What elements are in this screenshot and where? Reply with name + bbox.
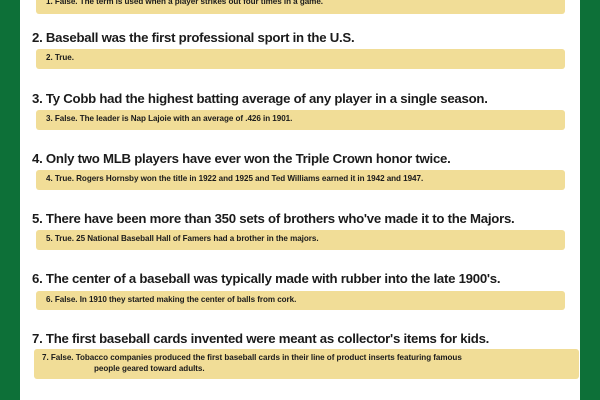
question-text-7: 7. The first baseball cards invented wer… (32, 331, 565, 348)
left-green-border (0, 0, 20, 400)
answer-text-6: 6. False. In 1910 they started making th… (46, 295, 557, 306)
qa-item-5: 5. There have been more than 350 sets of… (32, 211, 565, 250)
qa-item-2: 2. Baseball was the first professional s… (32, 30, 565, 69)
answer-text-7-line-2: people geared toward adults. (42, 364, 573, 375)
qa-item-7: 7. The first baseball cards invented wer… (32, 331, 565, 379)
answer-text-4: 4. True. Rogers Hornsby won the title in… (46, 174, 557, 185)
question-text-5: 5. There have been more than 350 sets of… (32, 211, 565, 230)
qa-item-1: 1. False. The term is used when a player… (32, 0, 565, 14)
question-text-6: 6. The center of a baseball was typicall… (32, 271, 565, 290)
qa-item-4: 4. Only two MLB players have ever won th… (32, 151, 565, 190)
question-text-4: 4. Only two MLB players have ever won th… (32, 151, 565, 170)
question-text-3: 3. Ty Cobb had the highest batting avera… (32, 91, 565, 110)
quiz-answer-key-page: 1. False. The term is used when a player… (0, 0, 600, 400)
answer-box-2: 2. True. (36, 49, 565, 69)
answer-text-1: 1. False. The term is used when a player… (46, 0, 557, 8)
answer-box-1: 1. False. The term is used when a player… (36, 0, 565, 14)
answer-box-5: 5. True. 25 National Baseball Hall of Fa… (36, 230, 565, 250)
question-text-2: 2. Baseball was the first professional s… (32, 30, 565, 49)
right-green-border (580, 0, 600, 400)
answer-text-2: 2. True. (46, 53, 557, 64)
answer-box-4: 4. True. Rogers Hornsby won the title in… (36, 170, 565, 190)
answer-box-3: 3. False. The leader is Nap Lajoie with … (36, 110, 565, 130)
answer-text-5: 5. True. 25 National Baseball Hall of Fa… (46, 234, 557, 245)
answer-text-7-line-1: 7. False. Tobacco companies produced the… (42, 353, 573, 364)
answer-box-6: 6. False. In 1910 they started making th… (36, 291, 565, 311)
qa-item-3: 3. Ty Cobb had the highest batting avera… (32, 91, 565, 130)
answer-box-7: 7. False. Tobacco companies produced the… (34, 349, 579, 380)
answer-text-3: 3. False. The leader is Nap Lajoie with … (46, 114, 557, 125)
qa-item-6: 6. The center of a baseball was typicall… (32, 271, 565, 310)
question-answer-list: 1. False. The term is used when a player… (32, 0, 565, 400)
quiz-content-area: 1. False. The term is used when a player… (20, 0, 580, 400)
